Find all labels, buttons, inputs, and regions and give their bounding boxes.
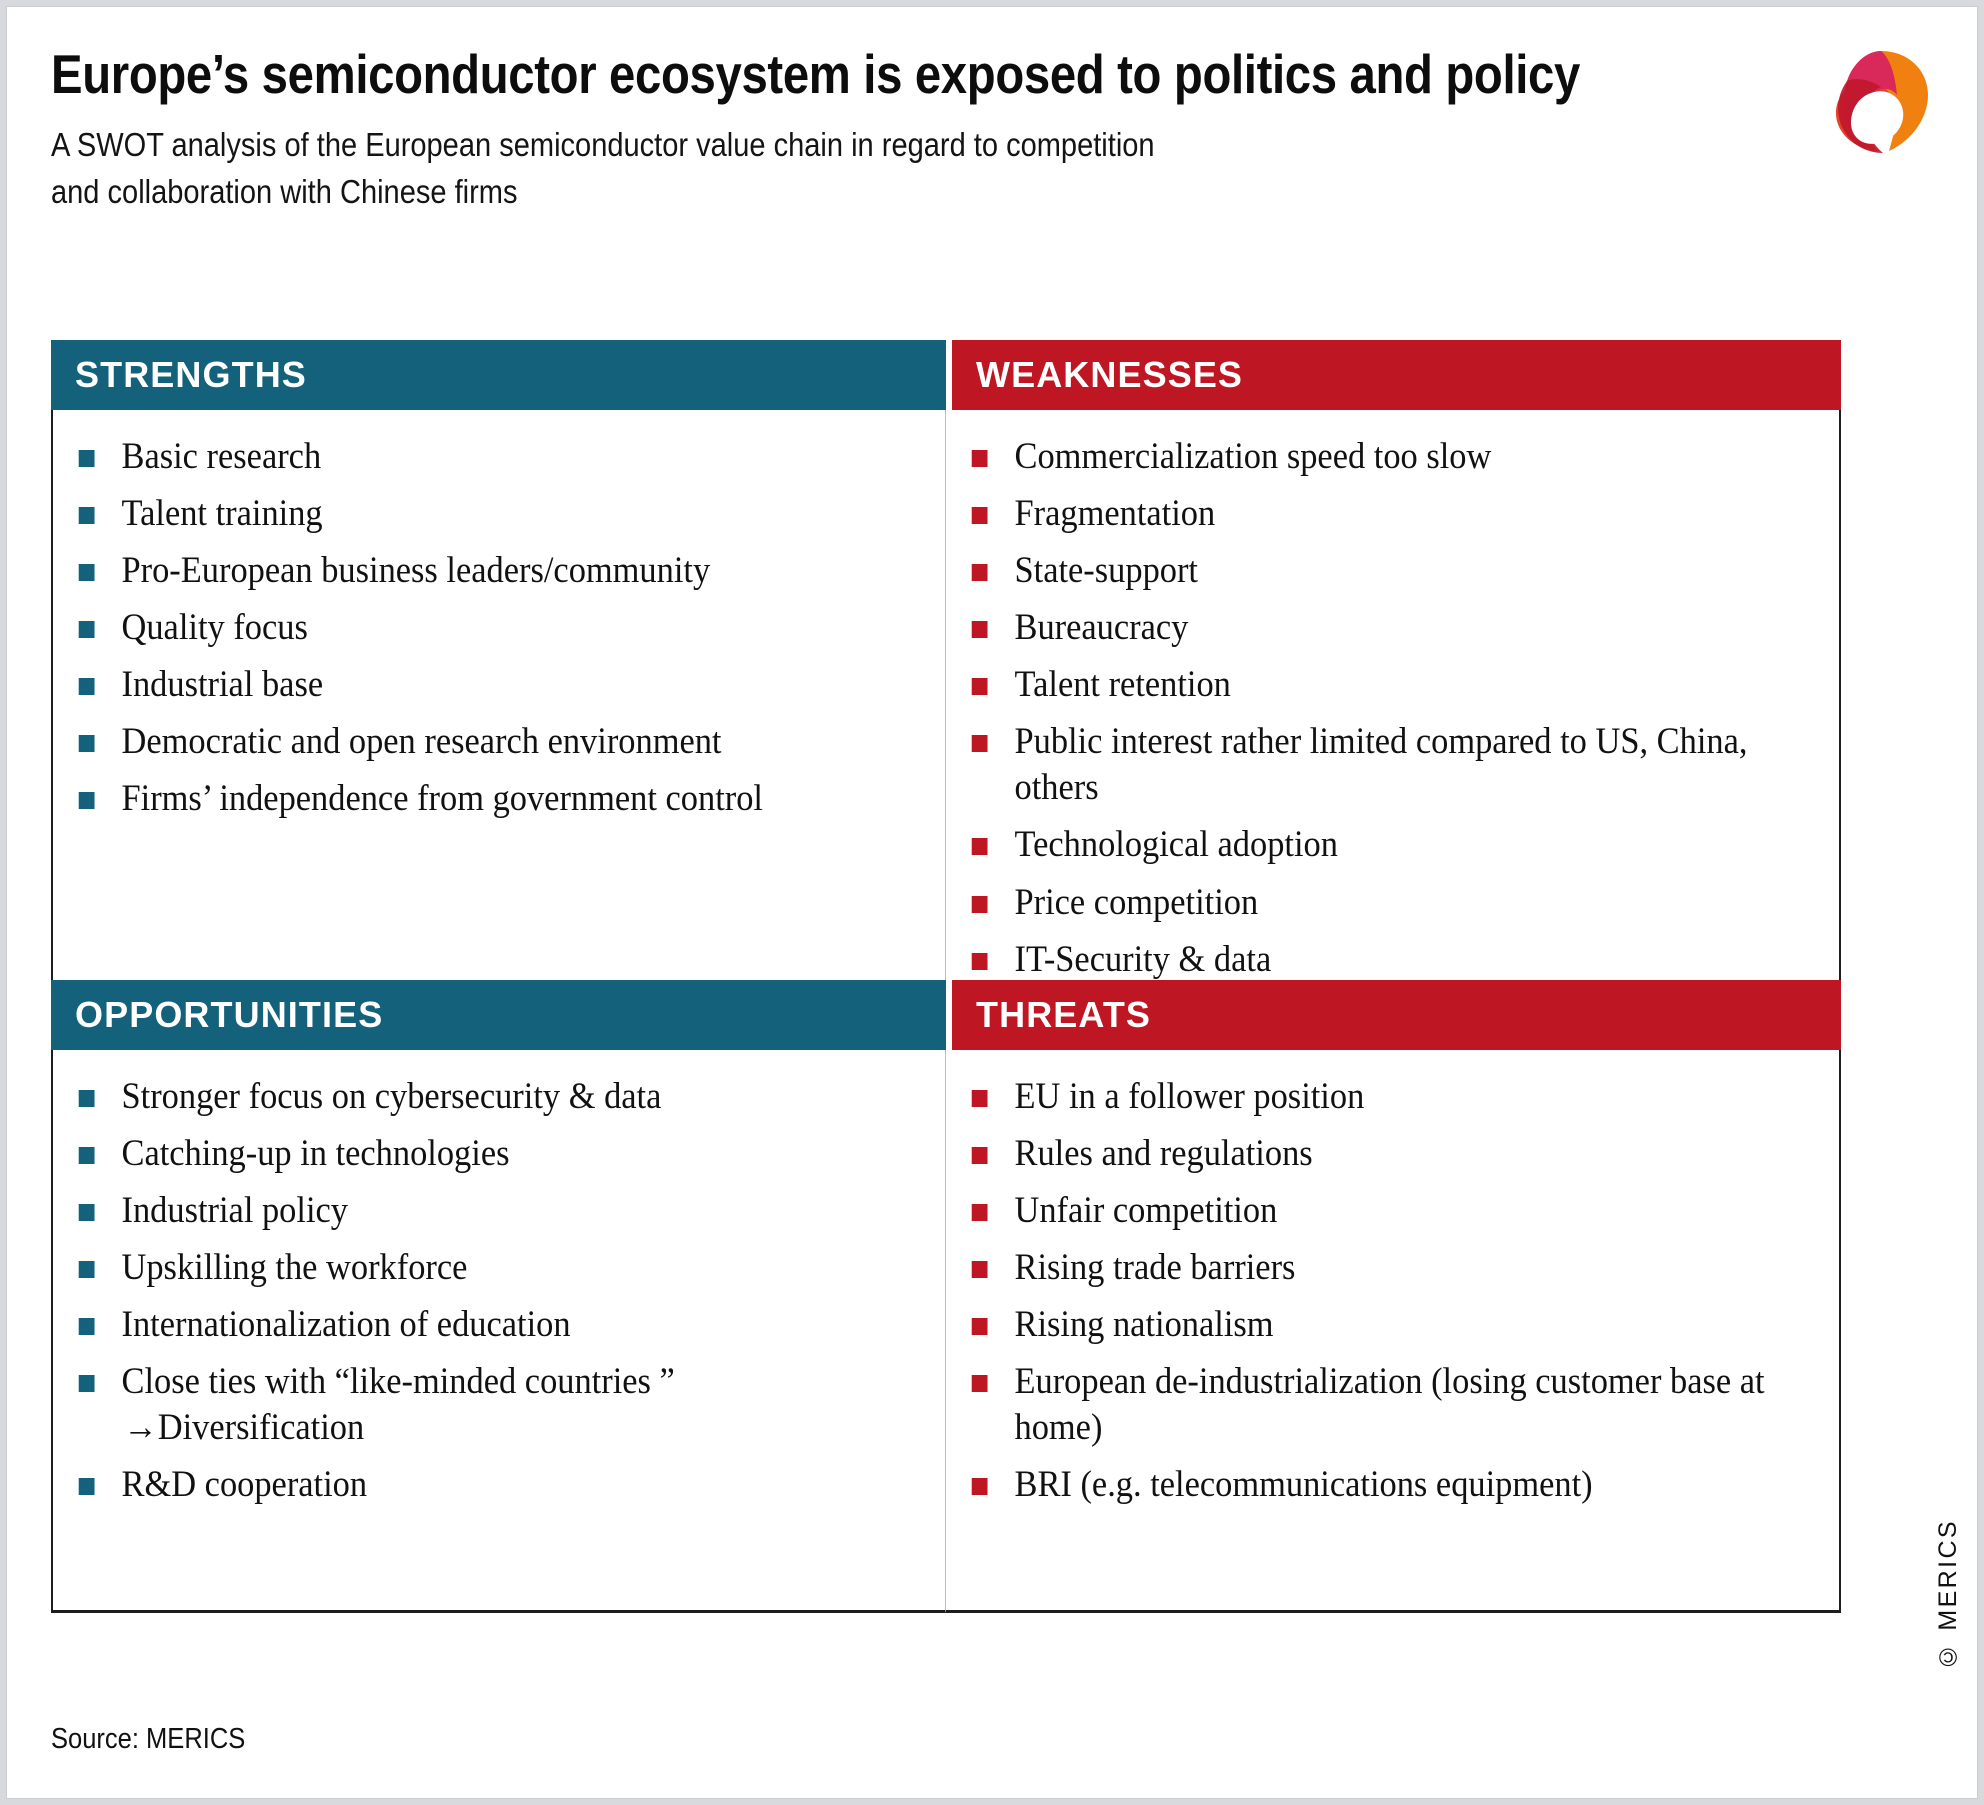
list-item-label: Rising trade barriers (1015, 1247, 1296, 1288)
list-item: Bureaucracy (968, 605, 1765, 651)
list-item-label: Industrial base (122, 664, 324, 705)
bullet-square-icon (79, 1375, 95, 1392)
bullet-square-icon (79, 450, 95, 467)
list-item: European de-industrialization (losing cu… (968, 1359, 1765, 1451)
bullet-square-icon (972, 735, 988, 752)
bullet-square-icon (972, 450, 988, 467)
list-item: Public interest rather limited compared … (968, 719, 1765, 811)
bullet-square-icon (972, 1261, 988, 1278)
list-item: Industrial base (75, 662, 871, 708)
list-item-label: State-support (1015, 550, 1199, 591)
list-item-label: IT-Security & data (1015, 939, 1272, 980)
bullet-square-icon (972, 1375, 988, 1392)
swot-quadrant-threats: THREATS EU in a follower position Rules … (946, 980, 1841, 1613)
threats-list: EU in a follower position Rules and regu… (968, 1074, 1825, 1509)
list-item-label: European de-industrialization (losing cu… (1015, 1361, 1765, 1448)
bullet-square-icon (79, 678, 95, 695)
bullet-square-icon (972, 678, 988, 695)
bullet-square-icon (972, 621, 988, 638)
opportunities-body: Stronger focus on cybersecurity & data C… (51, 1050, 946, 1613)
bullet-square-icon (972, 1204, 988, 1221)
list-item-label: EU in a follower position (1015, 1076, 1365, 1117)
list-item: Unfair competition (968, 1188, 1765, 1234)
swot-quadrant-opportunities: OPPORTUNITIES Stronger focus on cybersec… (51, 980, 946, 1613)
threats-heading: THREATS (952, 980, 1841, 1050)
bullet-square-icon (972, 1147, 988, 1164)
weaknesses-list: Commercialization speed too slow Fragmen… (968, 434, 1825, 980)
strengths-list: Basic research Talent training Pro-Europ… (75, 434, 931, 822)
page-subtitle: A SWOT analysis of the European semicond… (51, 122, 1746, 216)
list-item: Stronger focus on cybersecurity & data (75, 1074, 871, 1120)
bullet-square-icon (972, 564, 988, 581)
list-item-label: BRI (e.g. telecommunications equipment) (1015, 1464, 1593, 1505)
bullet-square-icon (972, 896, 988, 913)
list-item: BRI (e.g. telecommunications equipment) (968, 1462, 1765, 1508)
swot-grid: STRENGTHS Basic research Talent training… (51, 340, 1841, 1613)
list-item-label: Upskilling the workforce (122, 1247, 468, 1288)
list-item: Price competition (968, 880, 1765, 926)
list-item: Technological adoption (968, 822, 1765, 868)
list-item-label: Basic research (122, 436, 322, 477)
list-item: Democratic and open research environment (75, 719, 871, 765)
list-item-label: Unfair competition (1015, 1190, 1278, 1231)
list-item-label: Talent retention (1015, 664, 1231, 705)
bullet-square-icon (79, 1318, 95, 1335)
list-item-label: Talent training (122, 493, 323, 534)
list-item: Upskilling the workforce (75, 1245, 871, 1291)
list-item: Rising nationalism (968, 1302, 1765, 1348)
list-item: Talent retention (968, 662, 1765, 708)
list-item: Commercialization speed too slow (968, 434, 1765, 480)
list-item-label: R&D cooperation (122, 1464, 368, 1505)
bullet-square-icon (972, 1478, 988, 1495)
bullet-square-icon (972, 1090, 988, 1107)
opportunities-list: Stronger focus on cybersecurity & data C… (75, 1074, 931, 1509)
bullet-square-icon (79, 1090, 95, 1107)
copyright-note: © MERICS (1934, 1519, 1963, 1670)
list-item-label: Price competition (1015, 882, 1259, 923)
merics-ribbon-logo-icon (1827, 43, 1935, 161)
list-item-label: Public interest rather limited compared … (1015, 721, 1748, 808)
bullet-square-icon (79, 507, 95, 524)
bullet-square-icon (79, 564, 95, 581)
bullet-square-icon (79, 1204, 95, 1221)
list-item-label: Bureaucracy (1015, 607, 1189, 648)
list-item: Industrial policy (75, 1188, 871, 1234)
list-item: Talent training (75, 491, 871, 537)
strengths-body: Basic research Talent training Pro-Europ… (51, 410, 946, 980)
list-item-label: Technological adoption (1015, 824, 1338, 865)
bullet-square-icon (79, 1147, 95, 1164)
list-item: Basic research (75, 434, 871, 480)
list-item: Rising trade barriers (968, 1245, 1765, 1291)
threats-body: EU in a follower position Rules and regu… (946, 1050, 1841, 1613)
list-item: Catching-up in technologies (75, 1131, 871, 1177)
bullet-square-icon (79, 1261, 95, 1278)
bullet-square-icon (972, 953, 988, 970)
swot-quadrant-strengths: STRENGTHS Basic research Talent training… (51, 340, 946, 980)
opportunities-heading: OPPORTUNITIES (51, 980, 946, 1050)
bullet-square-icon (972, 1318, 988, 1335)
bullet-square-icon (79, 792, 95, 809)
list-item: IT-Security & data (968, 937, 1765, 980)
bullet-square-icon (972, 838, 988, 855)
list-item: Quality focus (75, 605, 871, 651)
list-item: Rules and regulations (968, 1131, 1765, 1177)
list-item-label: Industrial policy (122, 1190, 348, 1231)
list-item-label: Catching-up in technologies (122, 1133, 510, 1174)
bullet-square-icon (79, 735, 95, 752)
list-item: Firms’ independence from government cont… (75, 776, 871, 822)
list-item-label: Close ties with “like-minded countries ” (122, 1361, 675, 1402)
bullet-square-icon (79, 1478, 95, 1495)
list-item: State-support (968, 548, 1765, 594)
list-item-label: Fragmentation (1015, 493, 1216, 534)
list-item: R&D cooperation (75, 1462, 871, 1508)
list-item-label: Democratic and open research environment (122, 721, 722, 762)
list-item: Pro-European business leaders/community (75, 548, 871, 594)
infographic-page: Europe’s semiconductor ecosystem is expo… (6, 6, 1978, 1799)
list-item-label: Pro-European business leaders/community (122, 550, 711, 591)
strengths-heading: STRENGTHS (51, 340, 946, 410)
list-item-label: Quality focus (122, 607, 308, 648)
page-title: Europe’s semiconductor ecosystem is expo… (51, 45, 1707, 104)
list-item: Close ties with “like-minded countries ”… (75, 1359, 871, 1451)
list-item-label: Internationalization of education (122, 1304, 571, 1345)
swot-quadrant-weaknesses: WEAKNESSES Commercialization speed too s… (946, 340, 1841, 980)
list-item: Internationalization of education (75, 1302, 871, 1348)
weaknesses-heading: WEAKNESSES (952, 340, 1841, 410)
bullet-square-icon (79, 621, 95, 638)
list-item-label: Commercialization speed too slow (1015, 436, 1492, 477)
list-item-label: Rules and regulations (1015, 1133, 1313, 1174)
list-item-label: Rising nationalism (1015, 1304, 1274, 1345)
source-note: Source: MERICS (51, 1723, 245, 1756)
list-item: Fragmentation (968, 491, 1765, 537)
list-item-label: Stronger focus on cybersecurity & data (122, 1076, 662, 1117)
bullet-square-icon (972, 507, 988, 524)
list-item-label: Firms’ independence from government cont… (122, 778, 763, 819)
weaknesses-body: Commercialization speed too slow Fragmen… (946, 410, 1841, 980)
header: Europe’s semiconductor ecosystem is expo… (7, 7, 1977, 216)
list-item-sublabel: →Diversification (122, 1405, 872, 1451)
list-item: EU in a follower position (968, 1074, 1765, 1120)
